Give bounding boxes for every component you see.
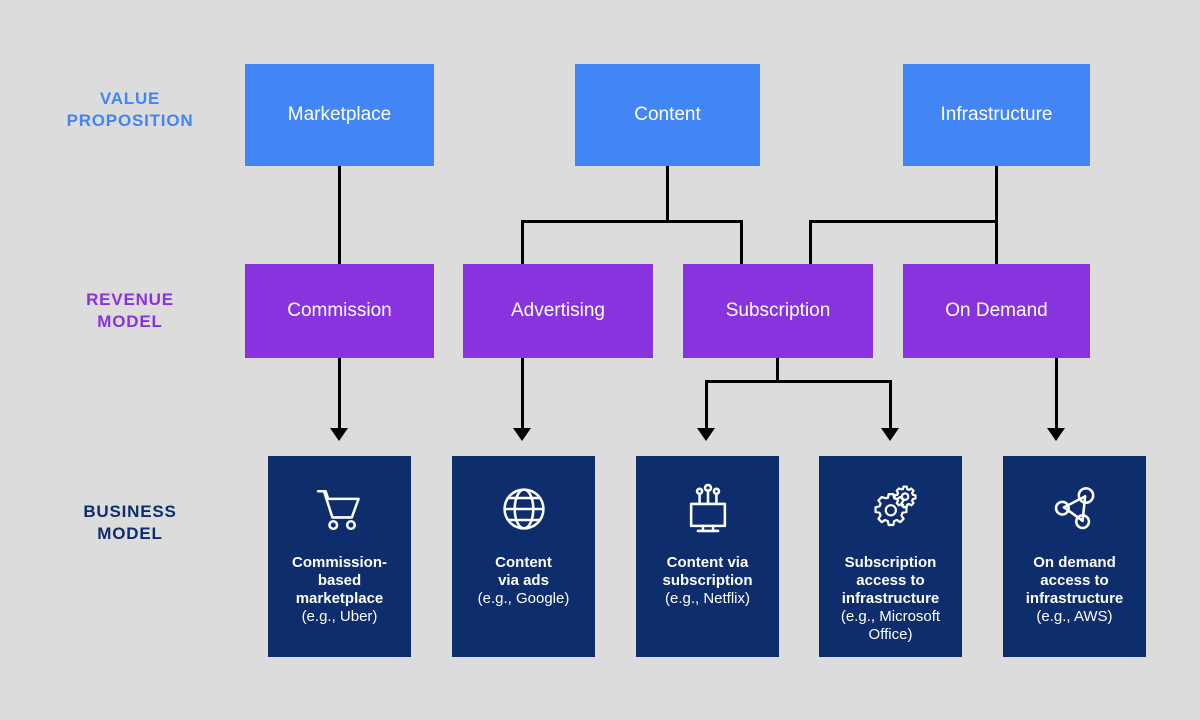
business-box-content-via-ads-example: (e.g., Google) xyxy=(474,590,574,608)
connector-advertising-arrow-head xyxy=(513,428,531,441)
connector-content-split-bar xyxy=(521,220,743,223)
business-box-ondemand-infrastructure[interactable]: On demand access to infrastructure (e.g.… xyxy=(1003,456,1146,657)
connector-infrastructure-trunk xyxy=(995,165,998,265)
connector-marketplace-commission xyxy=(338,165,341,265)
business-box-commission-marketplace-title: Commission- based marketplace xyxy=(286,554,393,608)
revenue-box-ondemand[interactable]: On Demand xyxy=(903,264,1090,358)
connector-subscription-split-bar xyxy=(705,380,892,383)
monitor-antenna-icon xyxy=(681,482,735,536)
revenue-box-subscription[interactable]: Subscription xyxy=(683,264,873,358)
connector-content-trunk xyxy=(666,165,669,223)
row-label-value-proposition: VALUE PROPOSITION xyxy=(30,88,230,132)
connector-ondemand-arrow-line xyxy=(1055,357,1058,431)
business-box-commission-marketplace-example: (e.g., Uber) xyxy=(298,608,382,626)
value-box-content[interactable]: Content xyxy=(575,64,760,166)
revenue-box-advertising-label: Advertising xyxy=(511,300,605,322)
row-label-business-model: BUSINESS MODEL xyxy=(30,501,230,545)
connector-subscription-right-arrow-line xyxy=(889,380,892,431)
network-nodes-icon xyxy=(1048,482,1102,536)
revenue-box-ondemand-label: On Demand xyxy=(945,300,1047,322)
gears-icon xyxy=(864,482,918,536)
globe-icon xyxy=(497,482,551,536)
business-box-ondemand-infrastructure-example: (e.g., AWS) xyxy=(1032,608,1116,626)
connector-subscription-left-arrow-line xyxy=(705,380,708,431)
value-box-infrastructure[interactable]: Infrastructure xyxy=(903,64,1090,166)
business-box-content-via-subscription[interactable]: Content via subscription (e.g., Netflix) xyxy=(636,456,779,657)
revenue-box-commission[interactable]: Commission xyxy=(245,264,434,358)
business-box-content-via-subscription-example: (e.g., Netflix) xyxy=(661,590,754,608)
value-box-infrastructure-label: Infrastructure xyxy=(941,104,1053,126)
row-label-revenue-model: REVENUE MODEL xyxy=(30,289,230,333)
shopping-cart-icon xyxy=(313,482,367,536)
connector-subscription-right-arrow-head xyxy=(881,428,899,441)
business-box-commission-marketplace[interactable]: Commission- based marketplace (e.g., Ube… xyxy=(268,456,411,657)
value-box-content-label: Content xyxy=(634,104,701,126)
business-box-subscription-infrastructure-title: Subscription access to infrastructure xyxy=(836,554,946,608)
business-box-subscription-infrastructure[interactable]: Subscription access to infrastructure (e… xyxy=(819,456,962,657)
connector-commission-arrow-head xyxy=(330,428,348,441)
value-box-marketplace-label: Marketplace xyxy=(288,104,392,126)
revenue-box-advertising[interactable]: Advertising xyxy=(463,264,653,358)
connector-infrastructure-subscription xyxy=(809,220,812,265)
business-box-subscription-infrastructure-example: (e.g., Microsoft Office) xyxy=(819,608,962,644)
connector-ondemand-arrow-head xyxy=(1047,428,1065,441)
connector-content-advertising xyxy=(521,220,524,265)
connector-infrastructure-split-bar xyxy=(809,220,998,223)
business-box-content-via-ads[interactable]: Content via ads (e.g., Google) xyxy=(452,456,595,657)
diagram-canvas: VALUE PROPOSITION REVENUE MODEL BUSINESS… xyxy=(0,0,1200,720)
connector-advertising-arrow-line xyxy=(521,357,524,431)
business-box-content-via-subscription-title: Content via subscription xyxy=(656,554,758,590)
connector-commission-arrow-line xyxy=(338,357,341,431)
business-box-ondemand-infrastructure-title: On demand access to infrastructure xyxy=(1020,554,1130,608)
revenue-box-commission-label: Commission xyxy=(287,300,392,322)
connector-subscription-left-arrow-head xyxy=(697,428,715,441)
value-box-marketplace[interactable]: Marketplace xyxy=(245,64,434,166)
revenue-box-subscription-label: Subscription xyxy=(726,300,831,322)
business-box-content-via-ads-title: Content via ads xyxy=(489,554,558,590)
connector-content-subscription xyxy=(740,220,743,265)
